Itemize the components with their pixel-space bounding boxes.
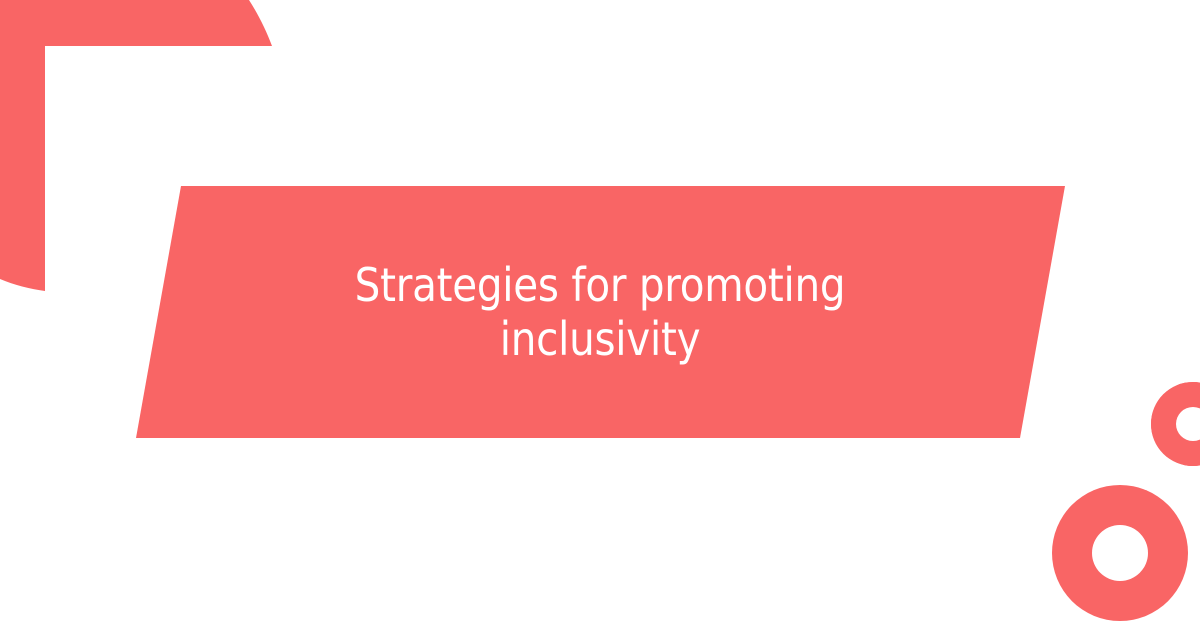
decorative-art-layer (0, 0, 1200, 630)
banner-parallelogram (136, 186, 1065, 438)
small-ring (1151, 382, 1200, 466)
poster-canvas: Strategies for promoting inclusivity (0, 0, 1200, 630)
large-ring (1052, 485, 1188, 621)
